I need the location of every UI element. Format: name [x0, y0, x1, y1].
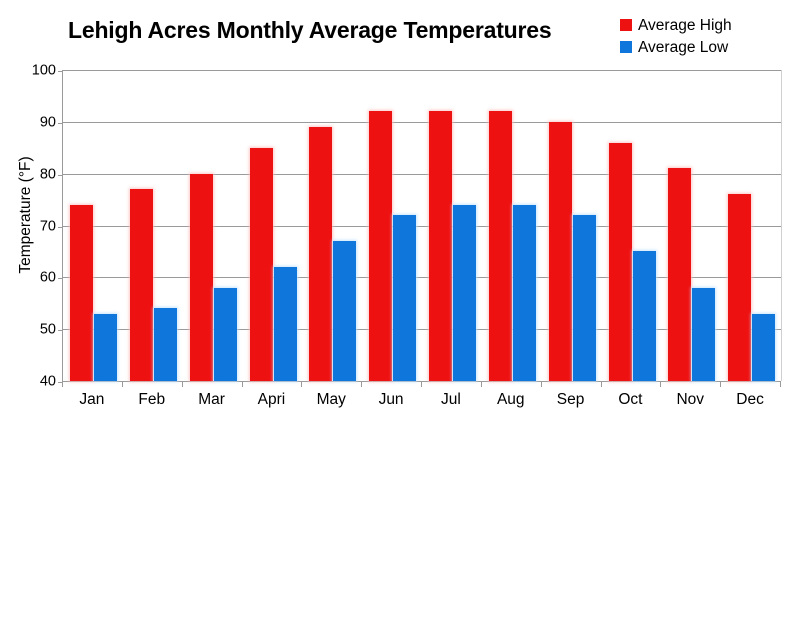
bar-average-low[interactable] [692, 288, 715, 381]
bar-average-high[interactable] [609, 143, 632, 381]
bar-average-high[interactable] [250, 148, 273, 381]
x-tick-mark [361, 381, 362, 387]
x-tick-mark [421, 381, 422, 387]
bar-group [542, 70, 602, 381]
bar-average-high[interactable] [70, 205, 93, 381]
x-tick-label-jul: Jul [421, 390, 481, 409]
bar-average-low[interactable] [214, 288, 237, 381]
x-tick-mark [481, 381, 482, 387]
x-tick-mark [660, 381, 661, 387]
bars-layer [63, 70, 781, 381]
x-tick-label-may: May [301, 390, 361, 409]
bar-group [183, 70, 243, 381]
bar-average-low[interactable] [333, 241, 356, 381]
bar-group [243, 70, 303, 381]
x-tick-label-apri: Apri [242, 390, 302, 409]
x-tick-label-aug: Aug [481, 390, 541, 409]
y-tick-label: 100 [32, 64, 56, 79]
bar-average-high[interactable] [429, 111, 452, 381]
chart-legend: Average HighAverage Low [620, 14, 768, 58]
bar-group [482, 70, 542, 381]
x-tick-mark [182, 381, 183, 387]
legend-item-average-low[interactable]: Average Low [620, 36, 768, 58]
x-tick-mark [122, 381, 123, 387]
bar-average-low[interactable] [573, 215, 596, 381]
bar-group [302, 70, 362, 381]
x-tick-mark [242, 381, 243, 387]
bar-average-high[interactable] [728, 194, 751, 381]
x-tick-label-dec: Dec [720, 390, 780, 409]
bar-average-high[interactable] [489, 111, 512, 381]
legend-item-average-high[interactable]: Average High [620, 14, 768, 36]
bar-average-high[interactable] [668, 168, 691, 381]
chart-title: Lehigh Acres Monthly Average Temperature… [68, 16, 628, 44]
y-tick-label: 70 [40, 219, 56, 234]
y-tick-label: 50 [40, 323, 56, 338]
legend-item-label: Average Low [638, 39, 728, 56]
x-tick-label-jun: Jun [361, 390, 421, 409]
bar-average-low[interactable] [94, 314, 117, 381]
x-tick-label-mar: Mar [182, 390, 242, 409]
x-tick-label-oct: Oct [601, 390, 661, 409]
x-tick-label-sep: Sep [541, 390, 601, 409]
bar-group [362, 70, 422, 381]
x-tick-label-nov: Nov [660, 390, 720, 409]
y-tick-label: 80 [40, 167, 56, 182]
legend-swatch-average-high [620, 19, 632, 31]
bar-group [661, 70, 721, 381]
bar-group [422, 70, 482, 381]
bar-average-low[interactable] [274, 267, 297, 381]
y-tick-label: 90 [40, 115, 56, 130]
bar-average-low[interactable] [513, 205, 536, 381]
bar-group [123, 70, 183, 381]
bar-group [721, 70, 781, 381]
bar-average-high[interactable] [369, 111, 392, 381]
bar-average-low[interactable] [633, 251, 656, 381]
bar-average-low[interactable] [453, 205, 476, 381]
x-tick-label-jan: Jan [62, 390, 122, 409]
y-tick-label: 60 [40, 271, 56, 286]
legend-swatch-average-low [620, 41, 632, 53]
bar-average-low[interactable] [393, 215, 416, 381]
x-tick-mark [541, 381, 542, 387]
x-tick-mark [601, 381, 602, 387]
bar-average-high[interactable] [309, 127, 332, 381]
bar-group [63, 70, 123, 381]
bar-group [602, 70, 662, 381]
x-tick-mark [62, 381, 63, 387]
x-tick-label-feb: Feb [122, 390, 182, 409]
chart-figure: Lehigh Acres Monthly Average Temperature… [0, 0, 788, 627]
bar-average-high[interactable] [549, 122, 572, 381]
plot-area: 100908070605040 [62, 70, 782, 381]
y-tick-label: 40 [40, 375, 56, 390]
y-axis-title: Temperature (°F) [17, 105, 35, 325]
bar-average-low[interactable] [154, 308, 177, 381]
x-tick-mark [720, 381, 721, 387]
legend-item-label: Average High [638, 17, 732, 34]
x-tick-mark [780, 381, 781, 387]
bar-average-low[interactable] [752, 314, 775, 381]
bar-average-high[interactable] [130, 189, 153, 381]
x-axis: JanFebMarApriMayJunJulAugSepOctNovDec [62, 381, 782, 421]
x-tick-mark [301, 381, 302, 387]
bar-average-high[interactable] [190, 174, 213, 381]
